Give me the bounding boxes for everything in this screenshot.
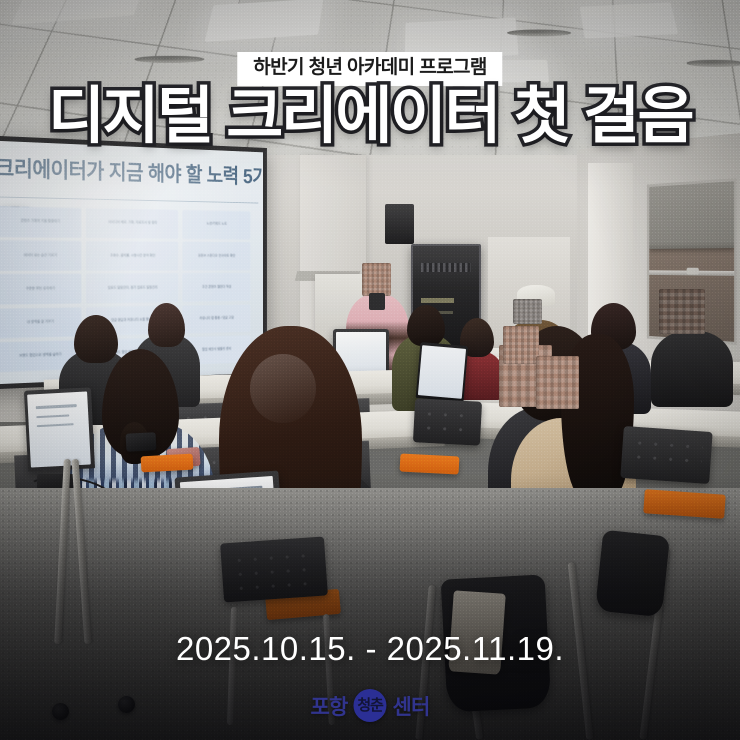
event-date-range: 2025.10.15. - 2025.11.19. [176, 630, 564, 668]
logo-mark-label: 청춘 [357, 698, 382, 713]
program-badge: 하반기 청년 아카데미 프로그램 [237, 52, 502, 86]
page-title: 디지털 크리에이터 첫 걸음 [48, 84, 692, 149]
event-poster: 크리에이터가 지금 해야 할 노력 5가지 노력법구체적 실행예시콘텐츠 기획력… [0, 0, 740, 740]
logo-circle-mark: 청춘 [354, 689, 387, 722]
logo-word-left: 포항 [310, 691, 347, 721]
poster-text-overlay: 하반기 청년 아카데미 프로그램 디지털 크리에이터 첫 걸음 2025.10.… [0, 0, 740, 740]
organization-logo: 포항 청춘 센터 [310, 689, 429, 722]
logo-word-right: 센터 [393, 691, 430, 721]
